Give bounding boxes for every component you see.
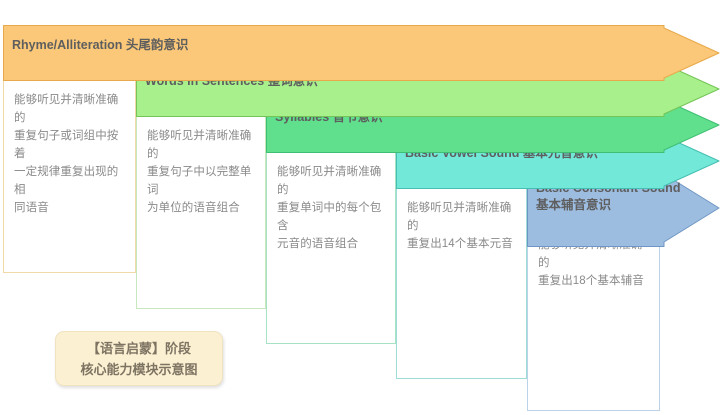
stage-body-text: 能够听见并清晰准确的 重复句子或词组中按着 一定规律重复出现的相 同语音 [14, 91, 127, 217]
stage-body-box-words-in-sentences: 能够听见并清晰准确的 重复句子中以完整单词 为单位的语音组合 [136, 112, 266, 309]
stage-body-box-basic-vowel-sound: 能够听见并清晰准确的 重复出14个基本元音 [396, 184, 527, 379]
stage-body-text: 能够听见并清晰准确的 重复句子中以完整单词 为单位的语音组合 [147, 127, 257, 217]
stage-body-box-syllables: 能够听见并清晰准确的 重复单词中的每个包含 元音的语音组合 [266, 148, 396, 344]
phonological-awareness-diagram: 能够听见并清晰准确的 重复句子或词组中按着 一定规律重复出现的相 同语音 能够听… [0, 0, 721, 415]
stage-body-box-basic-consonant-sound: 能够听见并清晰准确的 重复出18个基本辅音 [527, 221, 660, 411]
stage-header-label: Rhyme/Alliteration 头尾韵意识 [12, 37, 412, 54]
stage-band-rhyme-alliteration[interactable]: Rhyme/Alliteration 头尾韵意识 [3, 25, 721, 81]
stage-body-text: 能够听见并清晰准确的 重复出14个基本元音 [407, 199, 518, 253]
diagram-caption-text: 【语言启蒙】阶段 核心能力模块示意图 [80, 338, 197, 380]
stage-body-text: 能够听见并清晰准确的 重复单词中的每个包含 元音的语音组合 [277, 163, 387, 253]
diagram-caption-box: 【语言启蒙】阶段 核心能力模块示意图 [55, 331, 223, 386]
stage-body-box-rhyme-alliteration: 能够听见并清晰准确的 重复句子或词组中按着 一定规律重复出现的相 同语音 [3, 76, 136, 273]
